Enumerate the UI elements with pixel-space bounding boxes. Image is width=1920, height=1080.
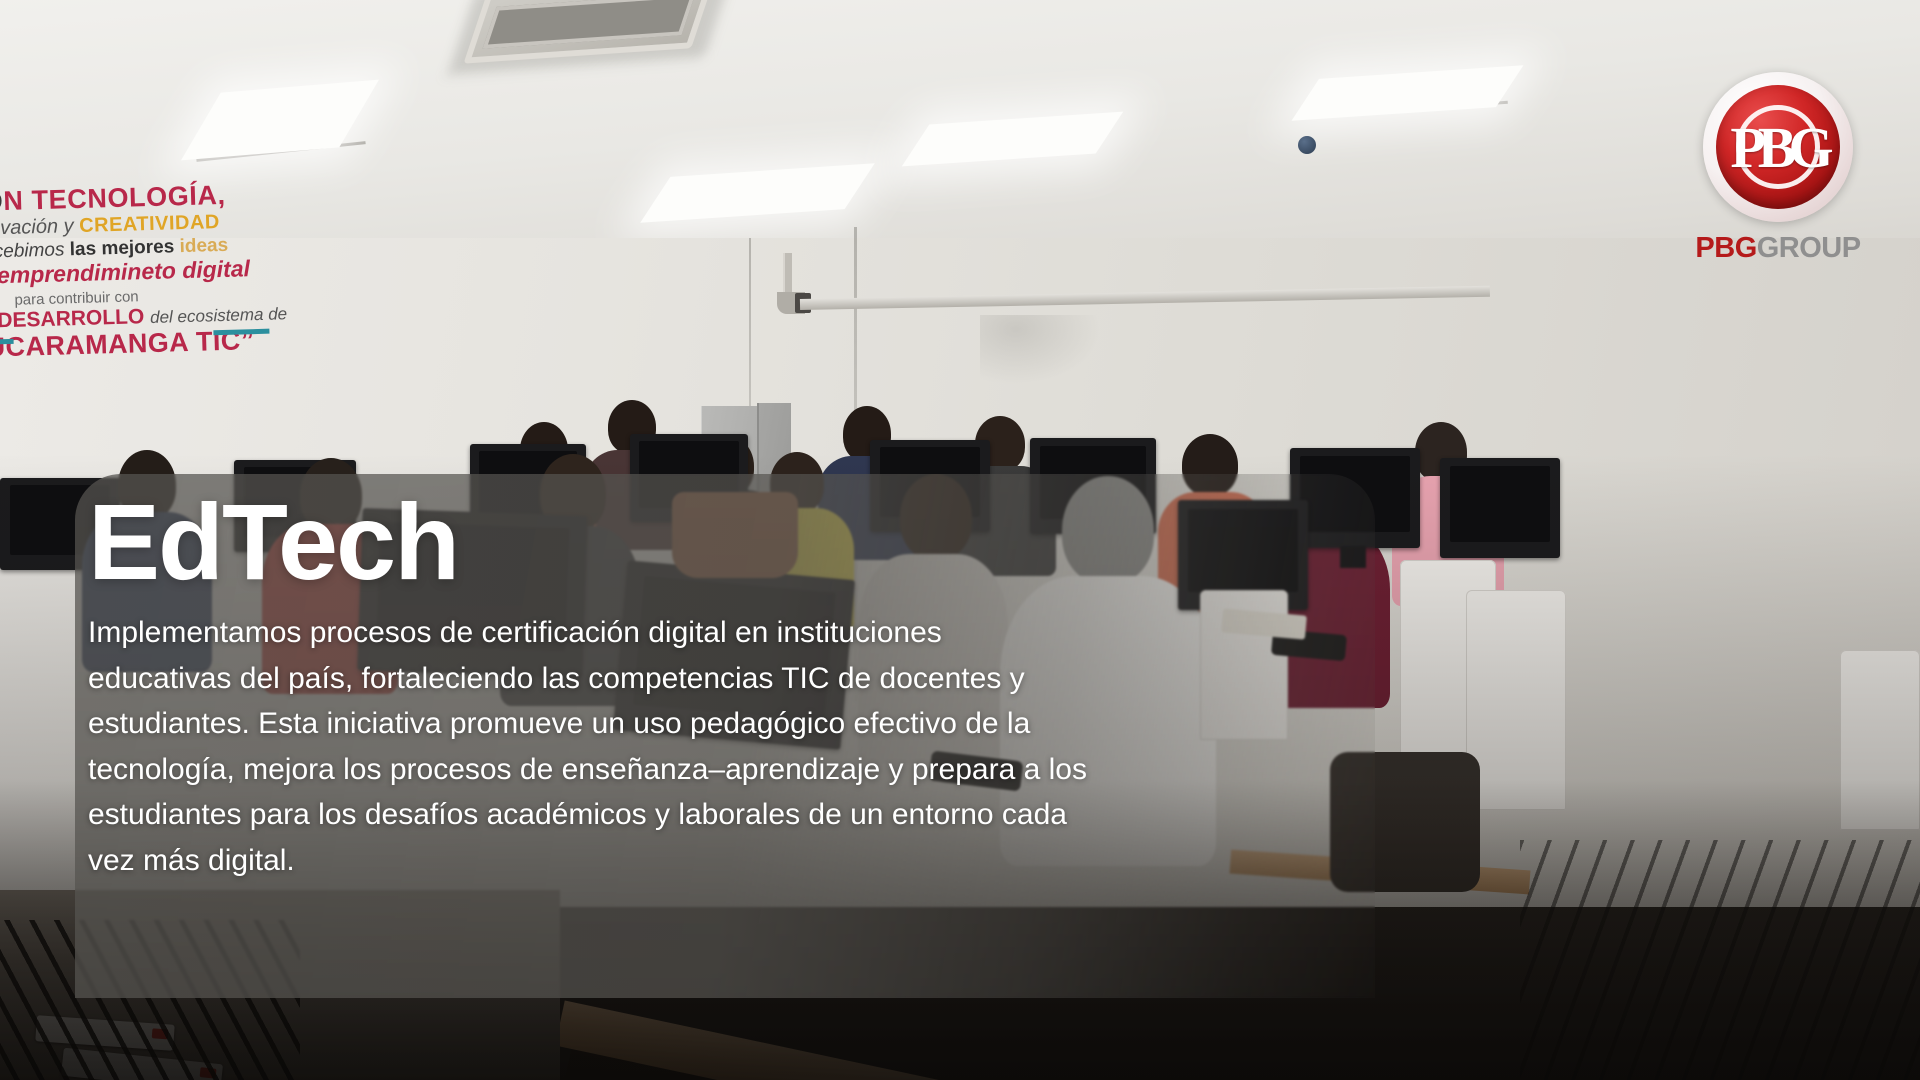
mural-line-6-b: del ecosistema de bbox=[150, 304, 288, 327]
brand-name-group: GROUP bbox=[1757, 232, 1861, 264]
hero-content: EdTech Implementamos procesos de certifi… bbox=[88, 474, 1148, 998]
brand-name-pbg: PBG bbox=[1695, 232, 1756, 264]
mural-line-4: de emprendimineto digital bbox=[0, 257, 264, 289]
pbg-emblem-icon: PBG bbox=[1703, 72, 1853, 222]
page-title: EdTech bbox=[88, 466, 1148, 596]
pbg-emblem-ring: PBG bbox=[1716, 85, 1840, 209]
mural-line-3-b: las mejores bbox=[69, 236, 179, 260]
wall-mural-text: CON TECNOLOGÍA, innovación y CREATIVIDAD… bbox=[0, 181, 267, 384]
wall-stain bbox=[980, 315, 1100, 385]
smoke-detector-icon bbox=[1298, 136, 1316, 154]
banner-stage: CON TECNOLOGÍA, innovación y CREATIVIDAD… bbox=[0, 0, 1920, 1080]
chair bbox=[1466, 590, 1566, 810]
mural-line-2-b: CREATIVIDAD bbox=[79, 211, 220, 237]
hero-description: Implementamos procesos de certificación … bbox=[88, 610, 1088, 884]
monitor bbox=[1440, 458, 1560, 558]
pbg-monogram: PBG bbox=[1716, 85, 1840, 209]
mural-line-3-a: concebimos bbox=[0, 239, 70, 263]
brand-name: PBGGROUP bbox=[1678, 232, 1878, 265]
mural-line-2-a: innovación y bbox=[0, 214, 79, 239]
mural-line-3-c: ideas bbox=[179, 235, 228, 257]
mural-line-4-b: emprendimineto digital bbox=[0, 256, 250, 289]
brand-logo[interactable]: PBG PBGGROUP bbox=[1678, 72, 1878, 265]
